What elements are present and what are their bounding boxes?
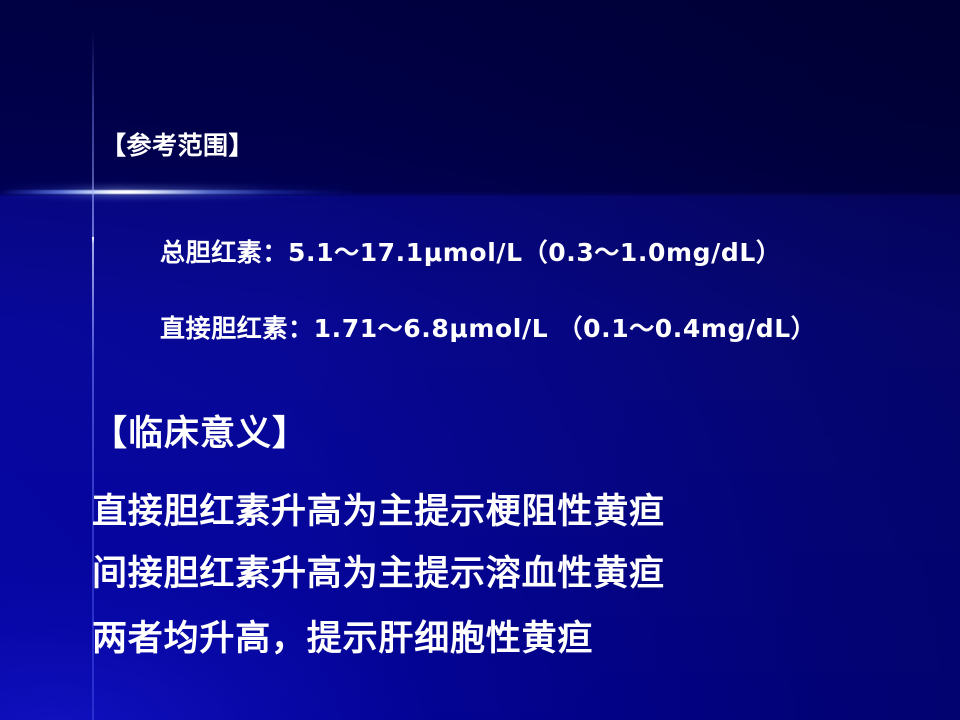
clinical-line-hemolytic-jaundice: 间接胆红素升高为主提示溶血性黄疸	[92, 545, 665, 596]
clinical-significance-heading: 【临床意义】	[92, 405, 308, 456]
reference-line-total-bilirubin: 总胆红素：5.1～17.1μmol/L（0.3～1.0mg/dL）	[160, 233, 782, 269]
slide-content: 【参考范围】 总胆红素：5.1～17.1μmol/L（0.3～1.0mg/dL）…	[0, 0, 960, 720]
clinical-line-hepatocellular-jaundice: 两者均升高，提示肝细胞性黄疸	[92, 610, 593, 661]
reference-line-direct-bilirubin: 直接胆红素：1.71～6.8μmol/L （0.1～0.4mg/dL）	[160, 309, 816, 345]
reference-range-heading: 【参考范围】	[101, 126, 254, 162]
slide-canvas: 【参考范围】 总胆红素：5.1～17.1μmol/L（0.3～1.0mg/dL）…	[0, 0, 960, 720]
clinical-line-obstructive-jaundice: 直接胆红素升高为主提示梗阻性黄疸	[92, 483, 665, 534]
